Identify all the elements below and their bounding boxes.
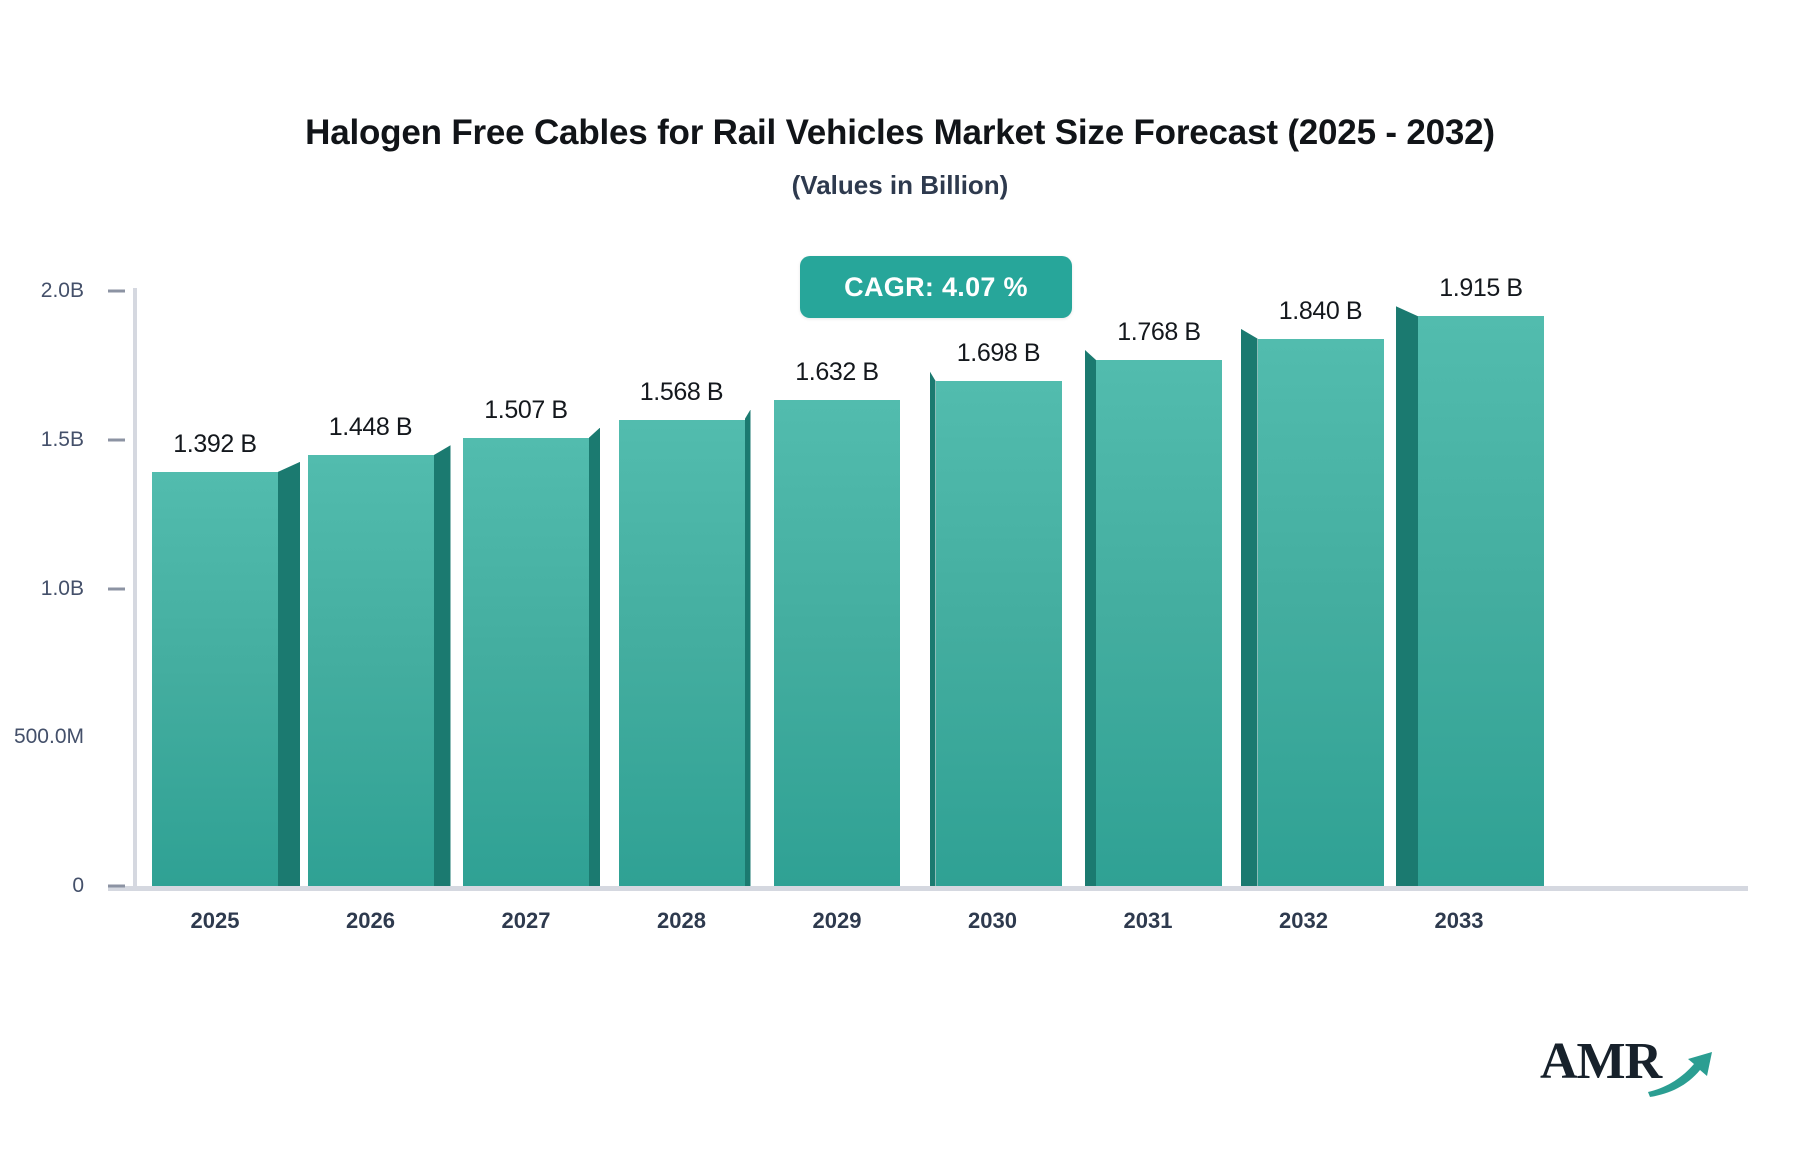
x-axis-tick-label: 2033 [1371,908,1547,934]
x-axis-line [108,886,1748,891]
bar-front-face [463,438,589,886]
bar-value-label: 1.507 B [438,396,614,425]
bar-side-face [434,445,451,886]
bar-side-face [1396,306,1418,886]
bar-front-face [774,400,900,886]
bar-2029 [774,400,900,886]
bar-2030 [930,381,1062,886]
y-axis-tick-mark [108,290,125,293]
bar-front-face [1258,339,1384,886]
bar-value-label: 1.632 B [749,358,925,387]
bar-2027 [463,438,600,886]
x-axis-tick-label: 2032 [1216,908,1392,934]
bar-side-face [589,428,600,886]
bar-front-face [152,472,278,886]
page-title: Halogen Free Cables for Rail Vehicles Ma… [0,113,1800,153]
x-axis-tick-label: 2025 [127,908,303,934]
bar-2028 [619,420,751,886]
bar-front-face [308,455,434,886]
bar-value-label: 1.840 B [1233,297,1409,326]
bar-value-label: 1.448 B [283,413,459,442]
y-axis-line [133,288,137,886]
bar-front-face [1418,316,1544,886]
cagr-badge: CAGR: 4.07 % [800,256,1072,318]
cagr-badge-label: CAGR: 4.07 % [844,272,1028,303]
y-axis-tick-mark [108,438,125,441]
bar-side-face [1241,329,1258,886]
bar-side-face [278,462,300,886]
bar-value-label: 1.768 B [1071,318,1247,347]
bar-front-face [619,420,745,886]
y-axis-tick-mark [108,587,125,590]
x-axis-tick-label: 2031 [1060,908,1236,934]
bar-value-label: 1.915 B [1393,274,1569,303]
chart-subtitle: (Values in Billion) [0,170,1800,201]
y-axis-tick-label: 1.5B [41,428,84,452]
y-axis-tick-label: 500.0M [14,725,84,749]
bar-2032 [1241,339,1384,886]
x-axis-tick-label: 2026 [283,908,459,934]
bar-2033 [1396,316,1544,886]
bar-2031 [1085,360,1222,886]
y-axis-tick-label: 1.0B [41,577,84,601]
y-axis-tick-label: 0 [72,874,84,898]
bar-value-label: 1.392 B [127,430,303,459]
x-axis-tick-label: 2027 [438,908,614,934]
chart-canvas: Halogen Free Cables for Rail Vehicles Ma… [0,0,1800,1156]
bar-2026 [308,455,451,886]
bar-2025 [152,472,300,886]
arrow-up-right-icon [1540,1030,1720,1098]
x-axis-tick-label: 2030 [905,908,1081,934]
bar-side-face [1085,350,1096,886]
bar-value-label: 1.698 B [911,339,1087,368]
x-axis-tick-label: 2029 [749,908,925,934]
bar-side-face [745,410,751,886]
x-axis-tick-label: 2028 [594,908,770,934]
amr-logo: AMR [1540,1030,1720,1098]
y-axis-tick-label: 2.0B [41,279,84,303]
bar-front-face [1096,360,1222,886]
bar-value-label: 1.568 B [594,378,770,407]
bar-front-face [936,381,1062,886]
y-axis-tick-mark [108,885,125,888]
